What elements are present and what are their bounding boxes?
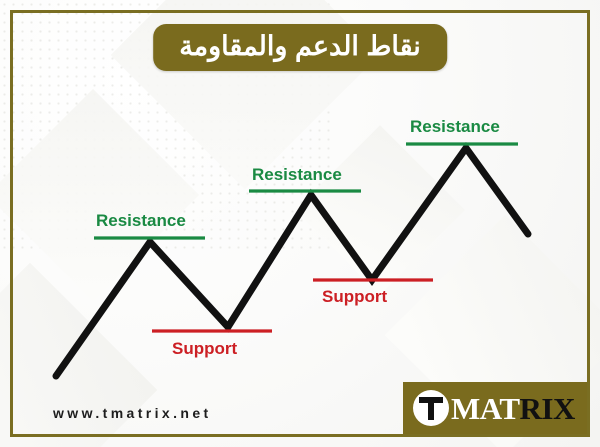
support-1-label: Support: [172, 340, 237, 357]
t-circle-icon: [413, 390, 449, 426]
price-chart: [0, 0, 600, 447]
tmatrix-logo: MATRIX: [403, 382, 587, 434]
logo-wordmark: MATRIX: [451, 393, 575, 424]
resistance-3-label: Resistance: [410, 118, 500, 135]
logo-text-light: MAT: [451, 391, 520, 426]
resistance-1-label: Resistance: [96, 212, 186, 229]
support-2-label: Support: [322, 288, 387, 305]
resistance-2-label: Resistance: [252, 166, 342, 183]
infographic-canvas: نقاط الدعم والمقاومة ResistanceSupportRe…: [0, 0, 600, 447]
logo-text-dark: RIX: [520, 391, 575, 426]
website-url: www.tmatrix.net: [53, 405, 212, 421]
